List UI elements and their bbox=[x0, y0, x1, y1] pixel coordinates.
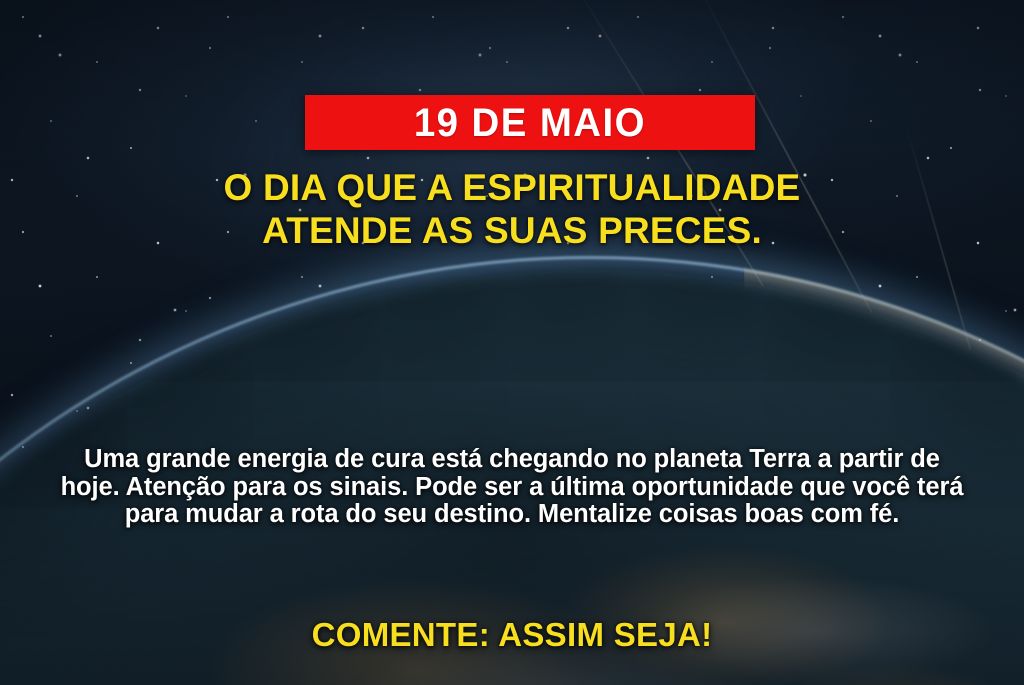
date-banner-label: 19 DE MAIO bbox=[414, 103, 646, 143]
body-paragraph: Uma grande energia de cura está chegando… bbox=[0, 446, 1024, 529]
poster-content: 19 DE MAIO O DIA QUE A ESPIRITUALIDADE A… bbox=[0, 0, 1024, 685]
call-to-action-label: COMENTE: ASSIM SEJA! bbox=[0, 616, 1024, 654]
date-banner: 19 DE MAIO bbox=[305, 95, 755, 150]
headline: O DIA QUE A ESPIRITUALIDADE ATENDE AS SU… bbox=[0, 166, 1024, 253]
headline-line-1: O DIA QUE A ESPIRITUALIDADE bbox=[224, 167, 801, 208]
poster: 19 DE MAIO O DIA QUE A ESPIRITUALIDADE A… bbox=[0, 0, 1024, 685]
headline-line-2: ATENDE AS SUAS PRECES. bbox=[46, 209, 978, 252]
